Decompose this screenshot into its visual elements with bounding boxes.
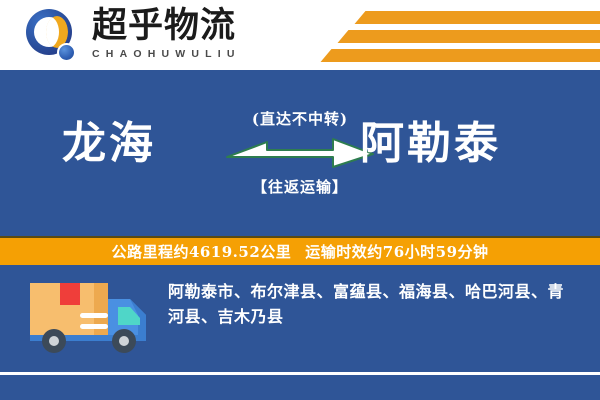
route-panel: 龙海 (直达不中转) 【往返运输】 阿勒泰 [0, 72, 600, 236]
coverage-areas-text: 阿勒泰市、布尔津县、富蕴县、福海县、哈巴河县、青河县、吉木乃县 [168, 279, 580, 329]
banner-header: 超乎物流 CHAOHUWULIU [0, 0, 600, 72]
logo-dot-shape [57, 43, 76, 62]
stripe-3 [321, 49, 600, 62]
origin-city: 龙海 [62, 118, 156, 170]
delivery-truck-icon [28, 277, 166, 355]
header-stripes-decoration [310, 0, 600, 72]
distance-text: 公路里程约4619.52公里 [111, 241, 291, 262]
route-info-bar: 公路里程约4619.52公里 运输时效约76小时59分钟 [0, 236, 600, 265]
company-name-en: CHAOHUWULIU [92, 47, 241, 61]
stripe-1 [355, 11, 600, 24]
logistics-banner: 超乎物流 CHAOHUWULIU 龙海 (直达不中转) 【往返运输】 阿勒泰 公… [0, 0, 600, 400]
double-headed-arrow-icon [225, 135, 375, 169]
coverage-panel: 阿勒泰市、布尔津县、富蕴县、福海县、哈巴河县、青河县、吉木乃县 [0, 265, 600, 373]
banner-footer [0, 375, 600, 400]
destination-city: 阿勒泰 [360, 118, 501, 170]
stripe-2 [338, 30, 600, 43]
round-trip-note: 【往返运输】 [215, 176, 385, 197]
company-logo-icon [26, 9, 81, 64]
company-name-block: 超乎物流 CHAOHUWULIU [92, 6, 241, 61]
duration-text: 运输时效约76小时59分钟 [305, 241, 488, 262]
company-name-cn: 超乎物流 [92, 6, 241, 46]
